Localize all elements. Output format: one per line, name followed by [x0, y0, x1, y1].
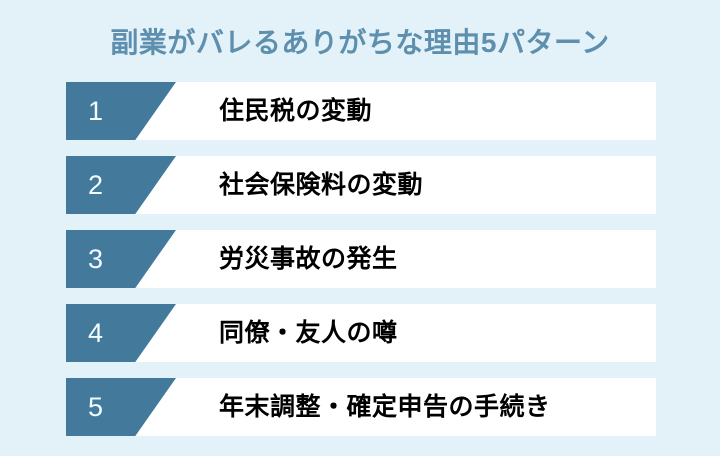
list-item[interactable]: 5 年末調整・確定申告の手続き [66, 378, 656, 436]
list-item[interactable]: 2 社会保険料の変動 [66, 156, 656, 214]
number-badge [66, 156, 176, 214]
list-item-label: 年末調整・確定申告の手続き [219, 378, 551, 436]
list-item[interactable]: 1 住民税の変動 [66, 82, 656, 140]
reason-list: 1 住民税の変動 2 社会保険料の変動 3 労災事故の発生 4 同僚・友人の噂 … [66, 82, 656, 436]
list-item-label: 同僚・友人の噂 [219, 304, 398, 362]
list-item-number: 1 [88, 82, 103, 140]
list-item[interactable]: 4 同僚・友人の噂 [66, 304, 656, 362]
number-badge [66, 304, 176, 362]
number-badge [66, 82, 176, 140]
list-item-number: 4 [88, 304, 103, 362]
infographic-board: 副業がバレるありがちな理由5パターン 1 住民税の変動 2 社会保険料の変動 3… [0, 0, 720, 456]
list-item[interactable]: 3 労災事故の発生 [66, 230, 656, 288]
list-item-number: 2 [88, 156, 103, 214]
page-title: 副業がバレるありがちな理由5パターン [0, 24, 720, 62]
number-badge [66, 378, 176, 436]
list-item-label: 住民税の変動 [219, 82, 372, 140]
number-badge [66, 230, 176, 288]
list-item-label: 労災事故の発生 [219, 230, 398, 288]
list-item-number: 3 [88, 230, 103, 288]
list-item-number: 5 [88, 378, 103, 436]
list-item-label: 社会保険料の変動 [219, 156, 423, 214]
